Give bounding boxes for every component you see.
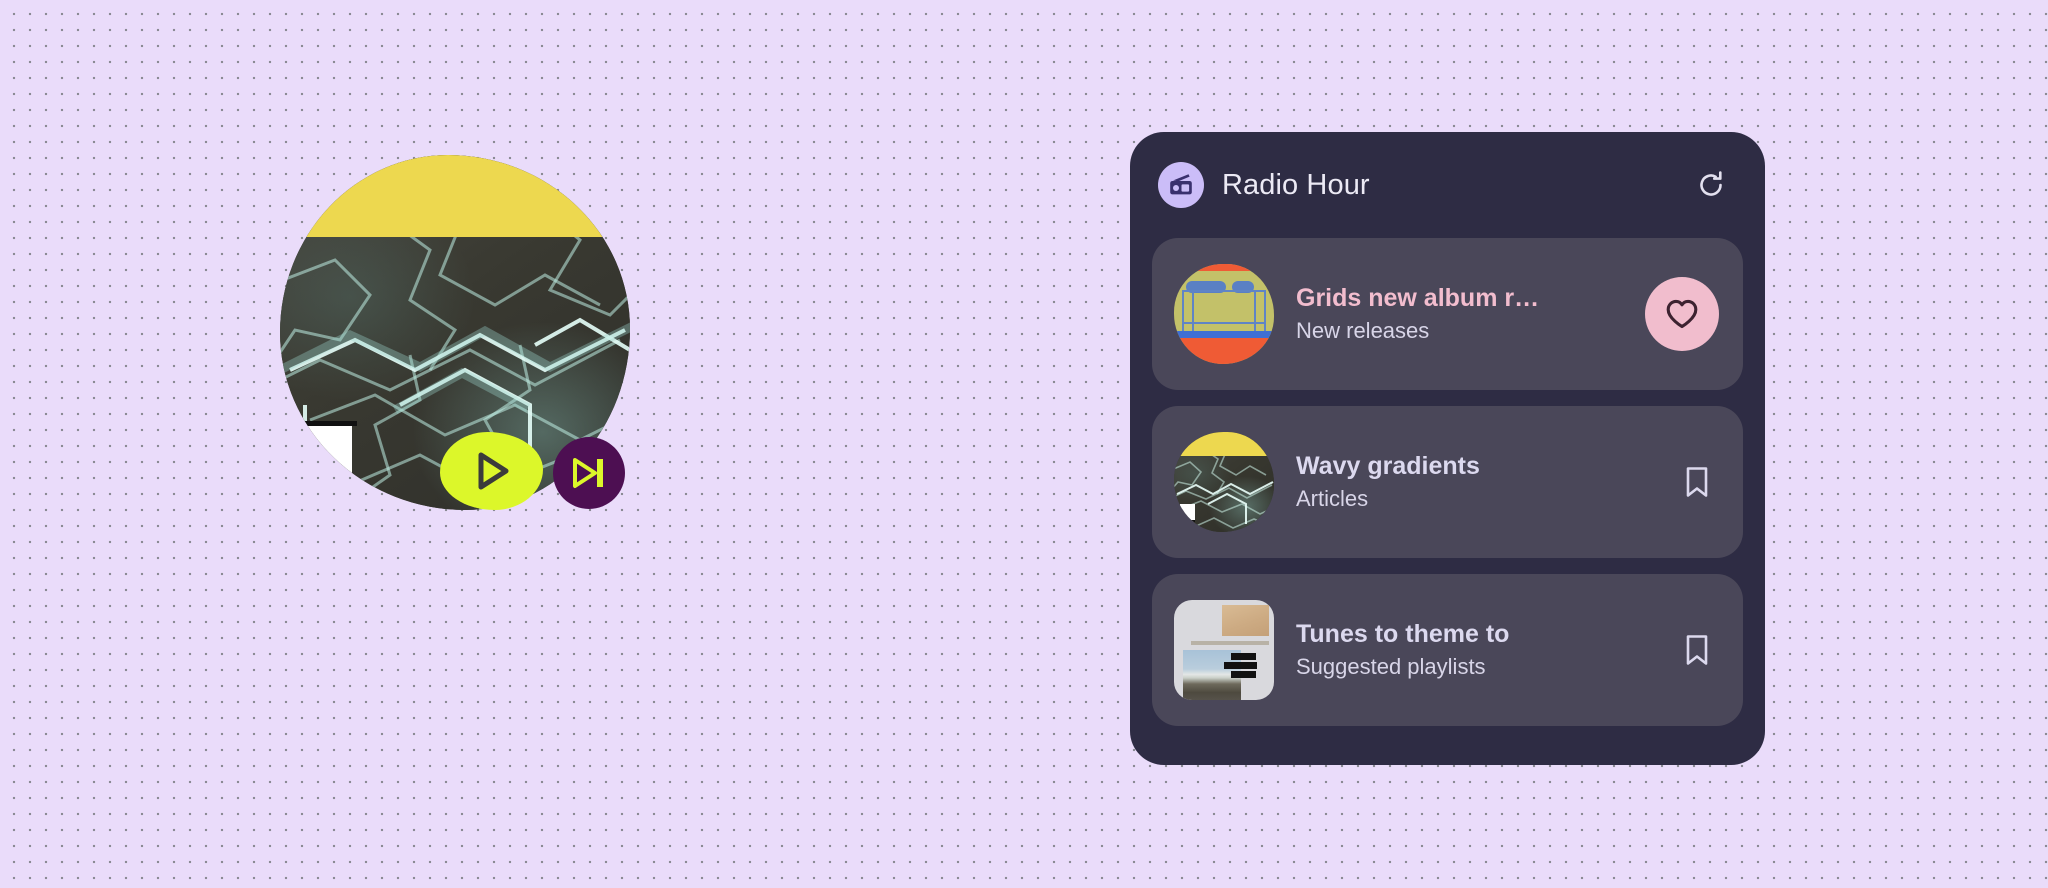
radio-item-list: Grids new album r… New releases [1152,238,1743,741]
bookmark-icon [1682,465,1712,499]
wavy-gradients-thumbnail [1174,432,1274,532]
thumb-frame-rule [1182,322,1266,324]
heart-icon [1665,298,1699,330]
list-item[interactable]: Tunes to theme to Suggested playlists [1152,574,1743,726]
play-button[interactable] [440,432,543,510]
list-item-text: Tunes to theme to Suggested playlists [1296,620,1661,680]
list-item-subtitle: New releases [1296,318,1631,344]
card-header: Radio Hour [1152,154,1743,216]
thumb-divider-bar [1191,641,1269,645]
list-item[interactable]: Wavy gradients Articles [1152,406,1743,558]
tunes-collage-thumbnail [1174,600,1274,700]
thumb-text-line-3 [1231,671,1256,678]
radio-icon [1168,172,1194,198]
list-item-subtitle: Suggested playlists [1296,654,1661,680]
play-icon [472,450,512,492]
save-button[interactable] [1675,628,1719,672]
artwork-yellow-band [280,155,630,237]
thumb-yellow-band [1174,432,1274,456]
list-item-subtitle: Articles [1296,486,1661,512]
skip-next-icon [571,456,607,490]
skip-next-button[interactable] [553,437,625,509]
list-item-title: Wavy gradients [1296,452,1661,481]
thumb-text-line-1 [1231,653,1256,660]
thumb-blue-line [1174,331,1274,338]
card-title: Radio Hour [1222,169,1370,202]
refresh-button[interactable] [1691,165,1731,205]
thumb-text-line-2 [1224,662,1257,669]
radio-icon-badge [1158,162,1204,208]
thumb-sand-photo [1222,605,1269,636]
list-item-text: Grids new album r… New releases [1296,284,1631,344]
bookmark-icon [1682,633,1712,667]
artwork-white-square [286,426,352,496]
grids-album-thumbnail [1174,264,1274,364]
thumb-orange-bottom [1174,338,1274,364]
list-item[interactable]: Grids new album r… New releases [1152,238,1743,390]
radio-hour-card: Radio Hour Grids new album r… N [1130,132,1765,765]
list-item-title: Tunes to theme to [1296,620,1661,649]
refresh-icon [1696,170,1726,200]
thumb-white-square [1178,504,1195,522]
thumb-frame-inner [1192,290,1256,334]
hero-album-player [280,155,630,510]
save-button[interactable] [1675,460,1719,504]
thumb-orange-top [1174,264,1274,271]
list-item-title: Grids new album r… [1296,284,1631,313]
like-button[interactable] [1645,277,1719,351]
list-item-text: Wavy gradients Articles [1296,452,1661,512]
